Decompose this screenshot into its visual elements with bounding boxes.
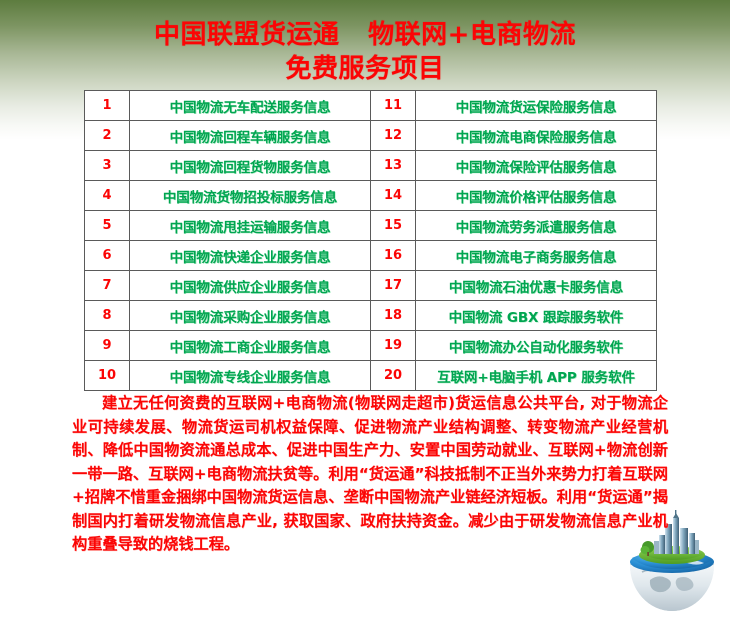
item-label: 互联网+电脑手机 APP 服务软件 [416,361,657,391]
table-row: 10 中国物流专线企业服务信息 20 互联网+电脑手机 APP 服务软件 [85,361,657,391]
table-row: 9 中国物流工商企业服务信息 19 中国物流办公自动化服务软件 [85,331,657,361]
item-number: 11 [371,91,416,121]
service-items-table: 1 中国物流无车配送服务信息 11 中国物流货运保险服务信息 2 中国物流回程车… [84,90,657,391]
item-number: 6 [85,241,130,271]
item-number: 15 [371,211,416,241]
item-number: 18 [371,301,416,331]
item-label: 中国物流专线企业服务信息 [130,361,371,391]
table-row: 1 中国物流无车配送服务信息 11 中国物流货运保险服务信息 [85,91,657,121]
item-label: 中国物流办公自动化服务软件 [416,331,657,361]
item-label: 中国物流甩挂运输服务信息 [130,211,371,241]
description-paragraph: 建立无任何资费的互联网+电商物流(物联网走超市)货运信息公共平台, 对于物流企业… [72,392,668,557]
service-items-tbody: 1 中国物流无车配送服务信息 11 中国物流货运保险服务信息 2 中国物流回程车… [85,91,657,391]
item-number: 19 [371,331,416,361]
table-row: 4 中国物流货物招投标服务信息 14 中国物流价格评估服务信息 [85,181,657,211]
item-label: 中国物流 GBX 跟踪服务软件 [416,301,657,331]
title-line-1: 中国联盟货运通 物联网+电商物流 [0,18,730,52]
item-number: 17 [371,271,416,301]
item-label: 中国物流回程货物服务信息 [130,151,371,181]
slide-title-block: 中国联盟货运通 物联网+电商物流 免费服务项目 [0,18,730,86]
item-number: 9 [85,331,130,361]
item-label: 中国物流无车配送服务信息 [130,91,371,121]
item-label: 中国物流电商保险服务信息 [416,121,657,151]
table-row: 2 中国物流回程车辆服务信息 12 中国物流电商保险服务信息 [85,121,657,151]
table-row: 6 中国物流快递企业服务信息 16 中国物流电子商务服务信息 [85,241,657,271]
item-number: 14 [371,181,416,211]
item-number: 3 [85,151,130,181]
title-line-2: 免费服务项目 [0,52,730,86]
item-number: 7 [85,271,130,301]
table-row: 3 中国物流回程货物服务信息 13 中国物流保险评估服务信息 [85,151,657,181]
table-row: 7 中国物流供应企业服务信息 17 中国物流石油优惠卡服务信息 [85,271,657,301]
item-number: 13 [371,151,416,181]
item-number: 16 [371,241,416,271]
item-label: 中国物流供应企业服务信息 [130,271,371,301]
item-label: 中国物流回程车辆服务信息 [130,121,371,151]
item-label: 中国物流采购企业服务信息 [130,301,371,331]
item-label: 中国物流价格评估服务信息 [416,181,657,211]
item-number: 12 [371,121,416,151]
item-label: 中国物流货运保险服务信息 [416,91,657,121]
item-number: 10 [85,361,130,391]
item-label: 中国物流电子商务服务信息 [416,241,657,271]
item-number: 2 [85,121,130,151]
item-number: 8 [85,301,130,331]
item-label: 中国物流货物招投标服务信息 [130,181,371,211]
table-row: 8 中国物流采购企业服务信息 18 中国物流 GBX 跟踪服务软件 [85,301,657,331]
table-row: 5 中国物流甩挂运输服务信息 15 中国物流劳务派遣服务信息 [85,211,657,241]
item-label: 中国物流石油优惠卡服务信息 [416,271,657,301]
item-number: 5 [85,211,130,241]
item-number: 1 [85,91,130,121]
item-label: 中国物流保险评估服务信息 [416,151,657,181]
item-label: 中国物流快递企业服务信息 [130,241,371,271]
item-number: 20 [371,361,416,391]
item-label: 中国物流劳务派遣服务信息 [416,211,657,241]
item-label: 中国物流工商企业服务信息 [130,331,371,361]
item-number: 4 [85,181,130,211]
